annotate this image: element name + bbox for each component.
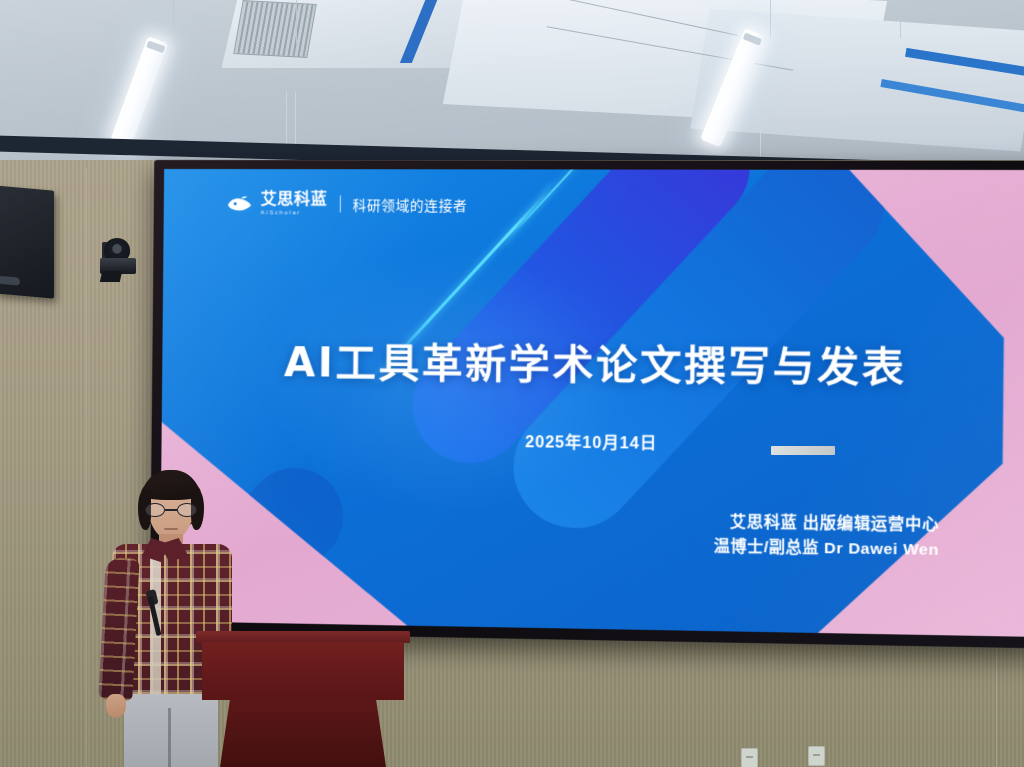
conference-room-photo: 艾思科蓝 AiScholar 科研领域的连接者 AI工具革新学术论文撰写与发表 … bbox=[0, 0, 1024, 767]
presentation-screen: 艾思科蓝 AiScholar 科研领域的连接者 AI工具革新学术论文撰写与发表 … bbox=[150, 160, 1024, 648]
presenter-mouth bbox=[164, 528, 178, 530]
brand-name-cn: 艾思科蓝 bbox=[261, 192, 328, 208]
glasses-icon bbox=[145, 503, 197, 517]
air-vent bbox=[233, 0, 317, 58]
presenter-org: 艾思科蓝 出版编辑运营中心 bbox=[714, 511, 939, 539]
brand-tagline: 科研领域的连接者 bbox=[353, 194, 468, 214]
wall-outlet bbox=[808, 746, 825, 766]
wall-outlet bbox=[741, 748, 758, 767]
brand-name-en: AiScholar bbox=[261, 210, 328, 216]
brand-name: 艾思科蓝 AiScholar bbox=[261, 192, 328, 216]
podium bbox=[196, 631, 410, 767]
slide-presenter-info: 艾思科蓝 出版编辑运营中心 温博士/副总监 Dr Dawei Wen bbox=[714, 511, 940, 564]
slide-title: AI工具革新学术论文撰写与发表 bbox=[162, 330, 1024, 396]
lamp-suspension-wire bbox=[770, 0, 771, 38]
presenter-name: 温博士/副总监 Dr Dawei Wen bbox=[714, 536, 939, 564]
whale-logo-icon bbox=[226, 194, 251, 213]
presenter-hand bbox=[106, 694, 126, 718]
ptz-camera bbox=[100, 238, 136, 282]
lamp-suspension-wire bbox=[296, 0, 297, 44]
lamp-suspension-wire bbox=[173, 0, 174, 44]
hanging-cord bbox=[286, 92, 287, 148]
hanging-cord bbox=[295, 92, 296, 144]
screen-display: 艾思科蓝 AiScholar 科研领域的连接者 AI工具革新学术论文撰写与发表 … bbox=[160, 169, 1024, 637]
screen-nameplate bbox=[771, 446, 835, 455]
lamp-suspension-wire bbox=[900, 0, 901, 38]
wall-speaker bbox=[0, 185, 54, 298]
screen-bezel: 艾思科蓝 AiScholar 科研领域的连接者 AI工具革新学术论文撰写与发表 … bbox=[150, 160, 1024, 648]
slide-logo: 艾思科蓝 AiScholar 科研领域的连接者 bbox=[226, 192, 467, 217]
logo-divider bbox=[339, 195, 340, 212]
slide-background bbox=[160, 169, 1024, 637]
presenter-trouser-seam bbox=[168, 708, 171, 767]
